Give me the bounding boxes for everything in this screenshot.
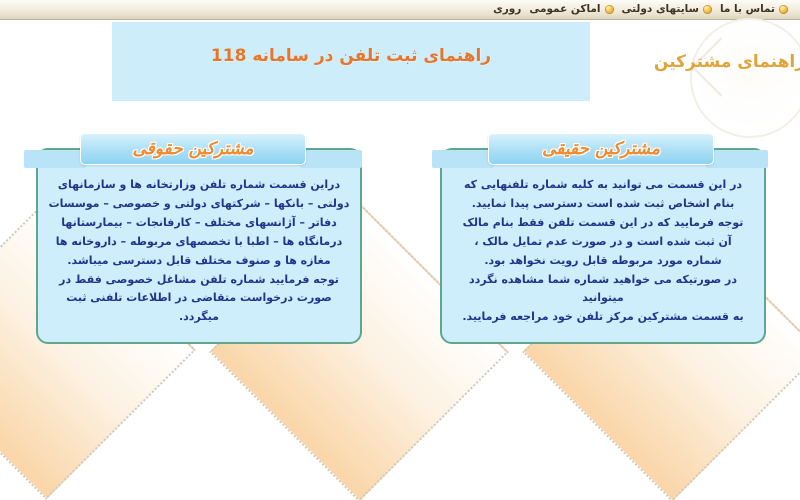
section-title: راهنمای مشترکین	[640, 52, 800, 72]
ribbon-tab	[24, 150, 86, 168]
ribbon-tab	[300, 150, 362, 168]
bullet-icon	[779, 5, 788, 14]
page-root: راهنمای ثبت تلفن در سامانه 118 راهنمای م…	[0, 0, 800, 500]
panel-legal-heading: مشترکین حقوقی	[132, 139, 253, 159]
nav-item-government-sites[interactable]: سایتهای دولتی	[618, 4, 716, 15]
panel-legal-body-text: دراین قسمت شماره تلفن وزارتخانه ها و ساز…	[48, 176, 350, 327]
nav-item-label: تماس با ما	[720, 4, 775, 15]
bullet-icon	[703, 5, 712, 14]
bullet-icon	[605, 5, 614, 14]
title-band: راهنمای ثبت تلفن در سامانه 118	[112, 22, 590, 101]
top-navigation-bar: تماس با ما سایتهای دولتی اماکن عمومی رور…	[0, 0, 800, 20]
panel-legal-header: مشترکین حقوقی	[80, 133, 306, 165]
ribbon-tab	[706, 150, 768, 168]
panel-real-body-text: در این قسمت می توانید به کلیه شماره تلفن…	[452, 176, 754, 327]
page-title: راهنمای ثبت تلفن در سامانه 118	[112, 46, 590, 66]
nav-item-public-places[interactable]: اماکن عمومی	[525, 4, 617, 15]
nav-item-label: سایتهای دولتی	[622, 4, 699, 15]
panel-real-subscribers: در این قسمت می توانید به کلیه شماره تلفن…	[440, 148, 766, 344]
panel-real-heading: مشترکین حقیقی	[542, 139, 660, 159]
circle-watermark-icon	[690, 18, 800, 138]
ribbon-tab	[432, 150, 494, 168]
nav-item-contact-us[interactable]: تماس با ما	[716, 4, 792, 15]
nav-item-essential[interactable]: روری	[489, 4, 525, 15]
panel-real-header: مشترکین حقیقی	[488, 133, 714, 165]
panel-legal-subscribers: دراین قسمت شماره تلفن وزارتخانه ها و ساز…	[36, 148, 362, 344]
nav-item-label: اماکن عمومی	[529, 4, 600, 15]
nav-item-label: روری	[493, 4, 521, 15]
